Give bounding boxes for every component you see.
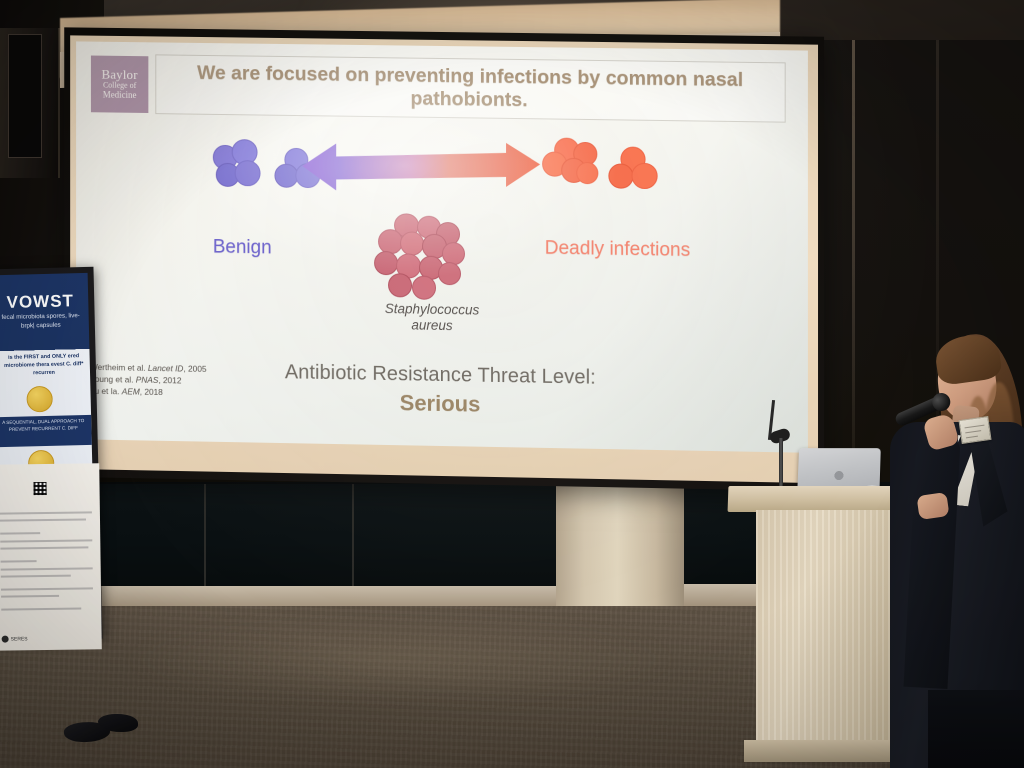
deadly-cocci-cluster-2 (608, 146, 658, 195)
qr-code-icon (33, 482, 46, 495)
citation-row: Lu et la. AEM, 2018 (90, 386, 207, 400)
staph-aureus-label: Staphylococcus aureus (362, 301, 502, 336)
vowst-banner-stand: VOWST fecal microbiota spores, live-brpk… (0, 267, 103, 641)
citation-authors: Wertheim et al. (90, 362, 146, 373)
presentation-slide: Baylor College of Medicine We are focuse… (76, 41, 808, 452)
citation-year: 2018 (144, 387, 162, 397)
staph-species: aureus (411, 318, 452, 334)
citation-year: 2005 (188, 364, 207, 374)
projection-screen: Baylor College of Medicine We are focuse… (64, 27, 824, 491)
baylor-logo: Baylor College of Medicine (91, 56, 148, 113)
seres-mark-icon (2, 636, 9, 643)
prescribing-information-sheet: SERES (0, 463, 102, 650)
seres-name: SERES (11, 636, 28, 642)
double-arrow-icon (302, 140, 540, 195)
wall-seam (852, 40, 855, 480)
staph-aureus-cluster (374, 213, 474, 305)
door-frame (0, 28, 60, 178)
baseboard (206, 586, 354, 608)
presentation-photo: Baylor College of Medicine We are focuse… (0, 0, 1024, 768)
vowst-brand: VOWST (0, 291, 87, 313)
vowst-point-1: A SEQUENTIAL, DUAL APPROACH TO PREVENT R… (0, 415, 92, 447)
logo-line-3: Medicine (103, 90, 137, 100)
citation-journal: Lancet ID (148, 363, 184, 374)
hand-on-podium (916, 492, 949, 520)
deadly-infections-label: Deadly infections (542, 238, 693, 262)
lower-body (928, 690, 1024, 768)
deadly-cocci-cluster-1 (542, 137, 598, 192)
benign-cocci-cluster-1 (213, 139, 265, 192)
spectrum-arrow (302, 140, 540, 195)
citation-year: 2012 (163, 375, 181, 385)
citation-journal: PNAS (136, 375, 159, 385)
slide-title-box: We are focused on preventing infections … (155, 54, 785, 122)
wall-panel (96, 484, 206, 590)
door-opening (8, 34, 42, 158)
seres-sponsor-logo: SERES (2, 635, 28, 642)
vowst-headline: is the FIRST and ONLY ered microbiome th… (0, 353, 90, 379)
slide-citations: Wertheim et al. Lancet ID, 2005 Young et… (90, 362, 207, 400)
baseboard (96, 586, 206, 608)
wall-panel (354, 484, 560, 590)
citation-authors: Young et al. (90, 374, 133, 385)
benign-label: Benign (213, 236, 272, 259)
floor-light-reflection (120, 614, 680, 704)
baseboard (354, 586, 560, 608)
staph-genus: Staphylococcus (385, 301, 480, 318)
name-badge (958, 416, 991, 444)
slide-title: We are focused on preventing infections … (166, 61, 774, 116)
wall-panel (206, 484, 354, 590)
citation-journal: AEM (122, 386, 140, 396)
vowst-tagline: fecal microbiota spores, live-brpk| caps… (0, 311, 87, 332)
speaker-presenter (880, 330, 1024, 768)
screen-surface: Baylor College of Medicine We are focuse… (76, 41, 808, 452)
